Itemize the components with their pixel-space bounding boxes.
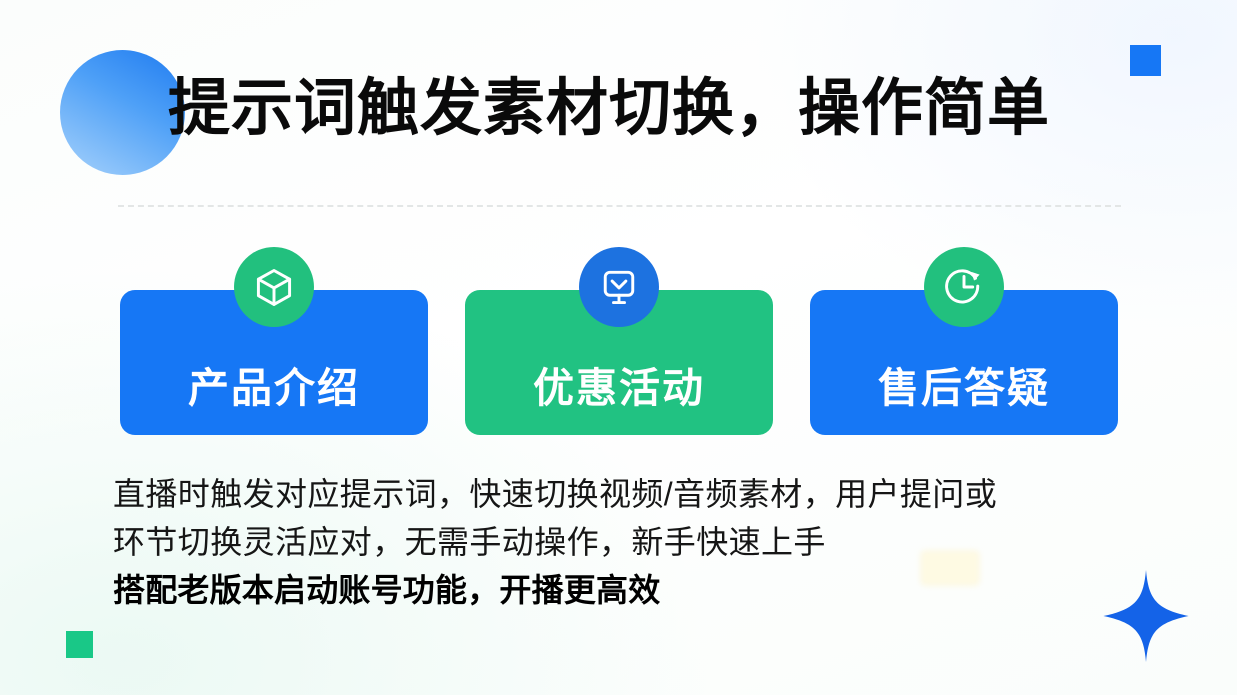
gradient-circle-icon bbox=[60, 50, 185, 175]
body-copy: 直播时触发对应提示词，快速切换视频/音频素材，用户提问或 环节切换灵活应对，无需… bbox=[113, 470, 1123, 614]
body-line: 直播时触发对应提示词，快速切换视频/音频素材，用户提问或 bbox=[113, 470, 1123, 518]
card-label: 产品介绍 bbox=[188, 368, 360, 409]
feature-card-row: 产品介绍 优惠活动 bbox=[120, 247, 1118, 435]
body-line-emphasis: 搭配老版本启动账号功能，开播更高效 bbox=[113, 566, 1123, 614]
page-title: 提示词触发素材切换，操作简单 bbox=[168, 78, 1050, 140]
card-label: 售后答疑 bbox=[878, 368, 1050, 409]
feature-card-aftersales[interactable]: 售后答疑 bbox=[810, 247, 1118, 435]
green-square-icon bbox=[66, 631, 93, 658]
slide-canvas: 提示词触发素材切换，操作简单 产品介绍 bbox=[0, 0, 1237, 695]
body-line: 环节切换灵活应对，无需手动操作，新手快速上手 bbox=[113, 518, 1123, 566]
card-label: 优惠活动 bbox=[533, 368, 705, 409]
feature-card-product[interactable]: 产品介绍 bbox=[120, 247, 428, 435]
clock-history-icon bbox=[924, 247, 1004, 327]
cube-icon bbox=[234, 247, 314, 327]
header-divider bbox=[118, 205, 1121, 207]
monitor-check-icon bbox=[579, 247, 659, 327]
feature-card-promotion[interactable]: 优惠活动 bbox=[465, 247, 773, 435]
blue-square-icon bbox=[1130, 45, 1161, 76]
